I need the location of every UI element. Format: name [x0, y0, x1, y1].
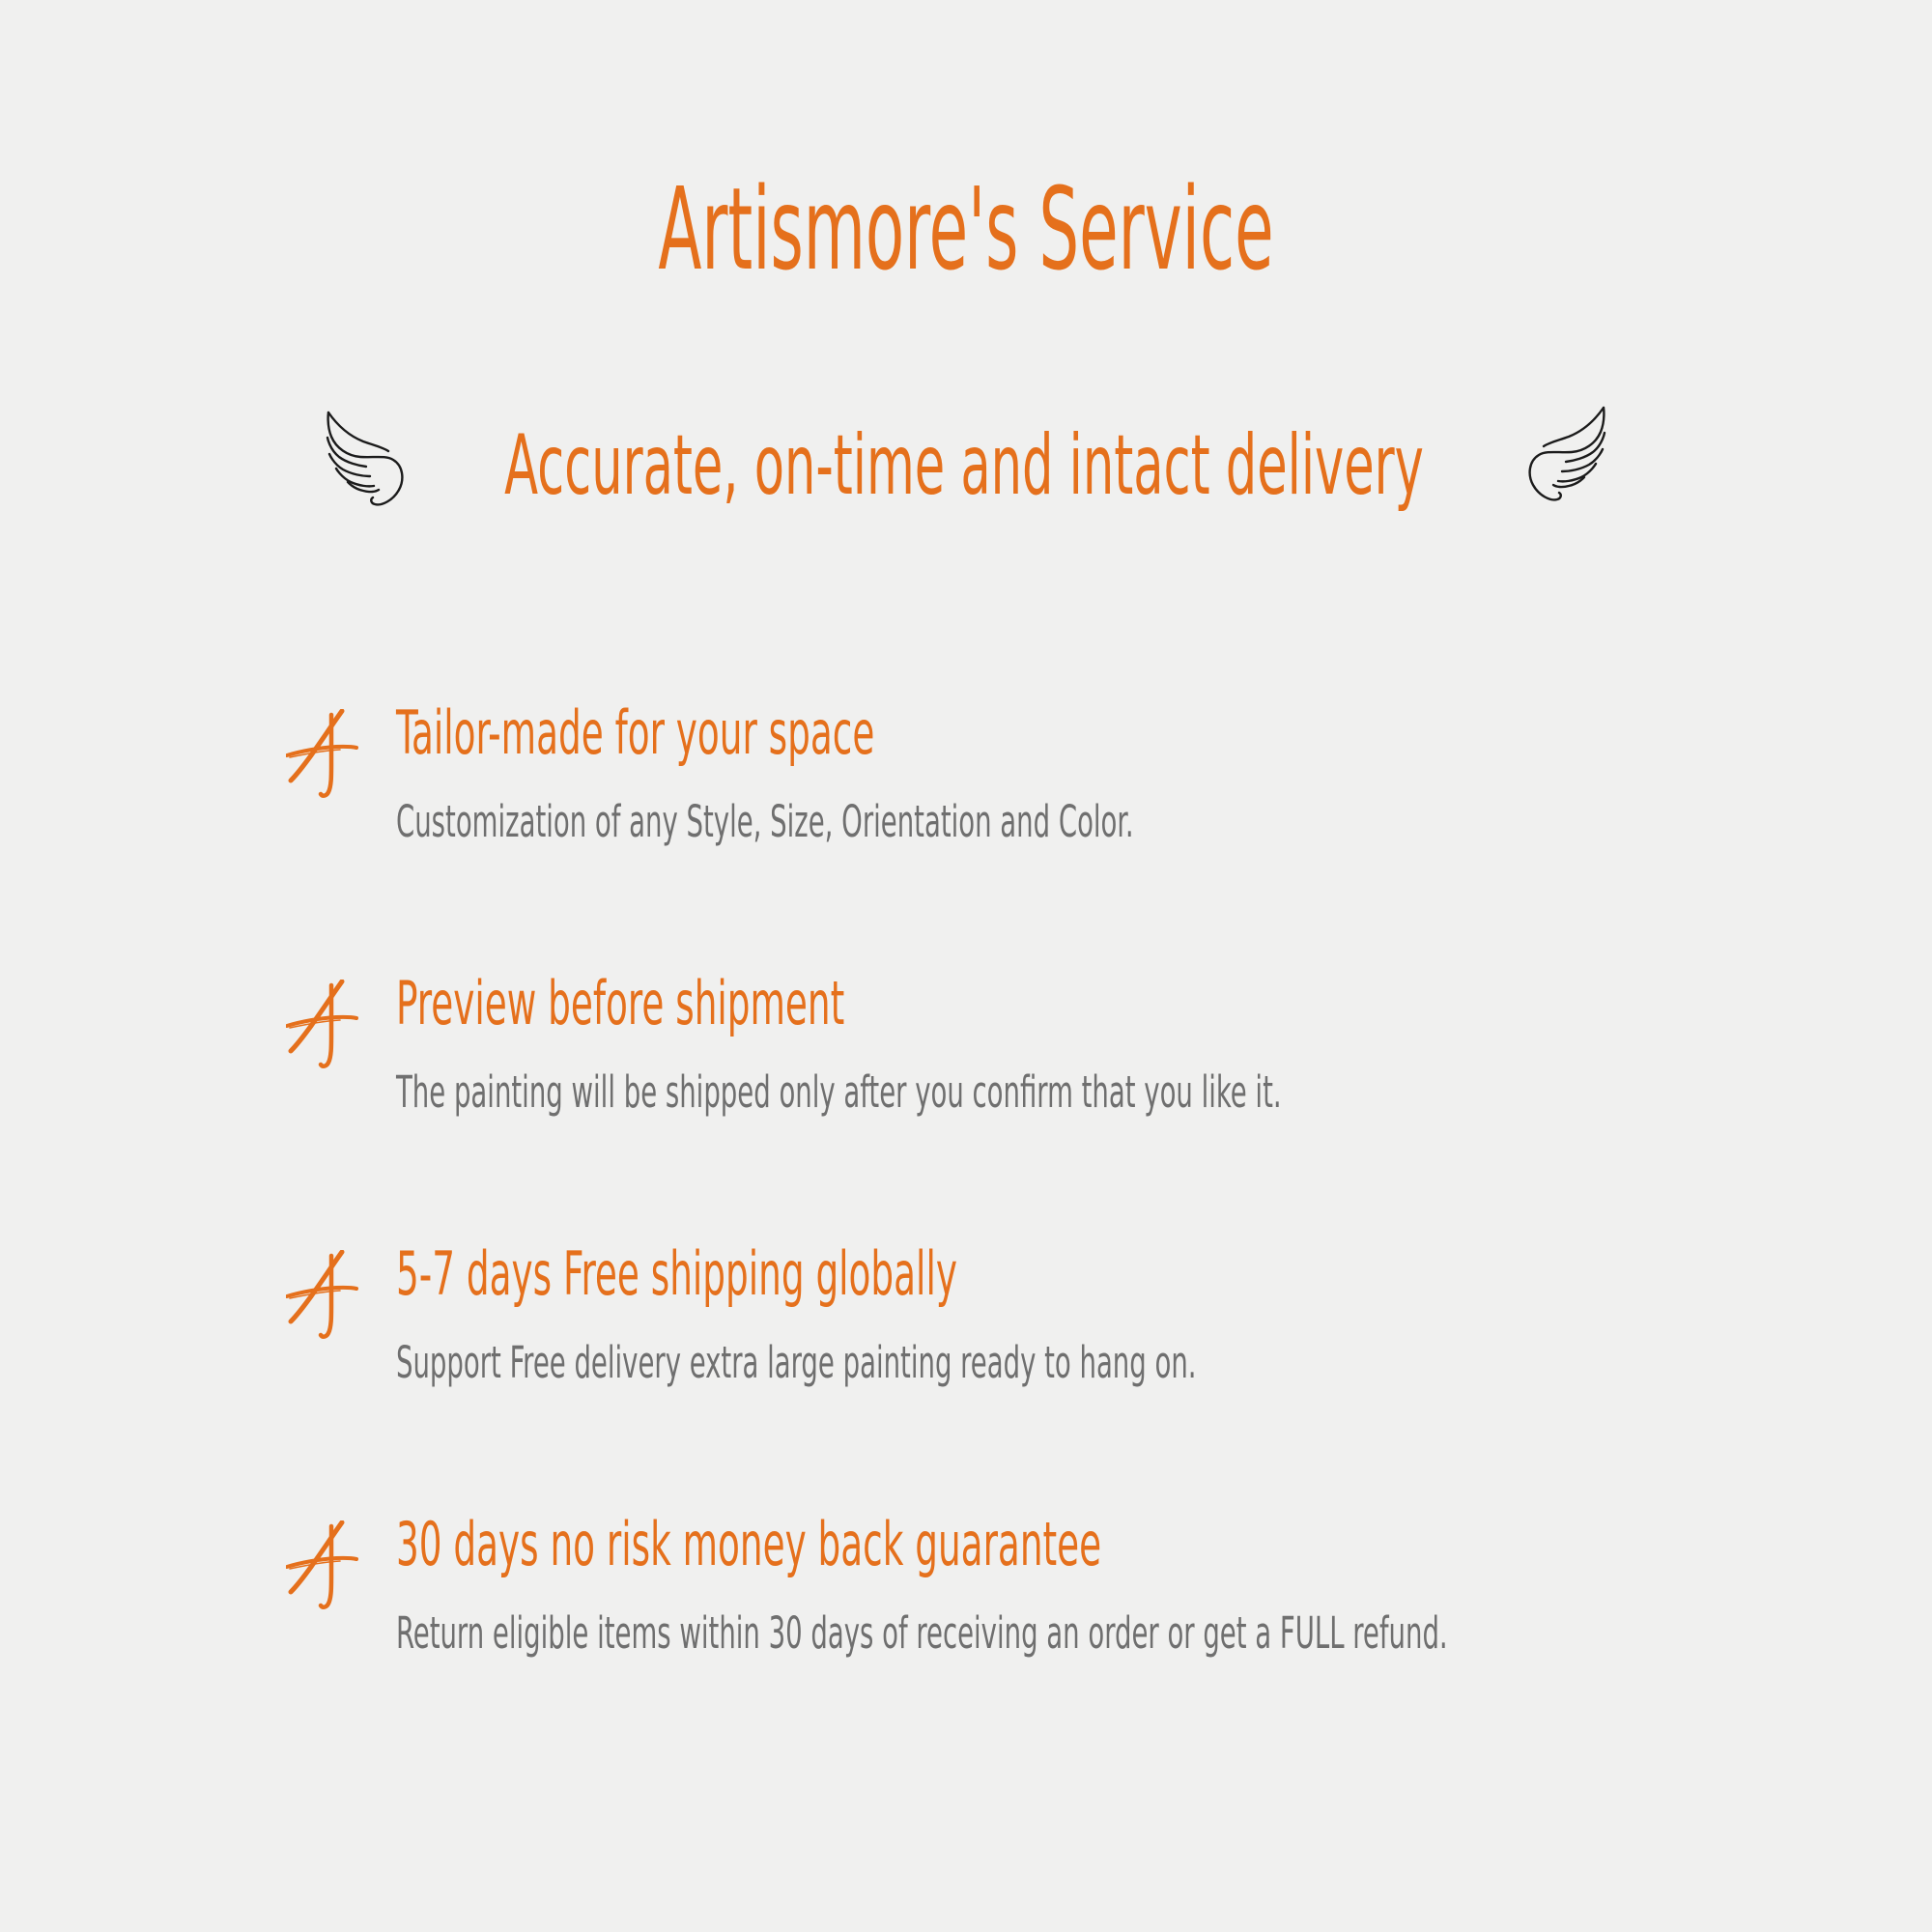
feature-body: 5-7 days Free shipping globally Support … [396, 1244, 1851, 1384]
script-a-icon [286, 980, 363, 1072]
feature-title: 30 days no risk money back guarantee [396, 1515, 1371, 1575]
wing-icon [1510, 399, 1614, 505]
feature-description: Support Free delivery extra large painti… [396, 1341, 1385, 1384]
script-a-icon [286, 709, 363, 802]
feature-description: The painting will be shipped only after … [396, 1070, 1385, 1114]
feature-item: Preview before shipment The painting wil… [286, 974, 1851, 1244]
feature-description: Return eligible items within 30 days of … [396, 1611, 1385, 1655]
wing-icon [318, 404, 422, 510]
feature-item: Tailor-made for your space Customization… [286, 703, 1851, 974]
feature-title: Tailor-made for your space [396, 703, 1371, 763]
script-a-icon [286, 1250, 363, 1343]
feature-list: Tailor-made for your space Customization… [286, 703, 1851, 1785]
page-title: Artismore's Service [367, 172, 1565, 286]
feature-item: 5-7 days Free shipping globally Support … [286, 1244, 1851, 1515]
feature-description: Customization of any Style, Size, Orient… [396, 800, 1385, 843]
feature-body: Preview before shipment The painting wil… [396, 974, 1851, 1114]
script-a-icon [286, 1520, 363, 1613]
feature-body: 30 days no risk money back guarantee Ret… [396, 1515, 1851, 1655]
tagline-row: Accurate, on-time and intact delivery [0, 398, 1932, 533]
feature-title: 5-7 days Free shipping globally [396, 1244, 1371, 1304]
tagline-text: Accurate, on-time and intact delivery [504, 424, 1424, 507]
service-info-page: Artismore's Service Accurate, on-time an… [0, 0, 1932, 1932]
feature-item: 30 days no risk money back guarantee Ret… [286, 1515, 1851, 1785]
feature-body: Tailor-made for your space Customization… [396, 703, 1851, 843]
feature-title: Preview before shipment [396, 974, 1371, 1034]
